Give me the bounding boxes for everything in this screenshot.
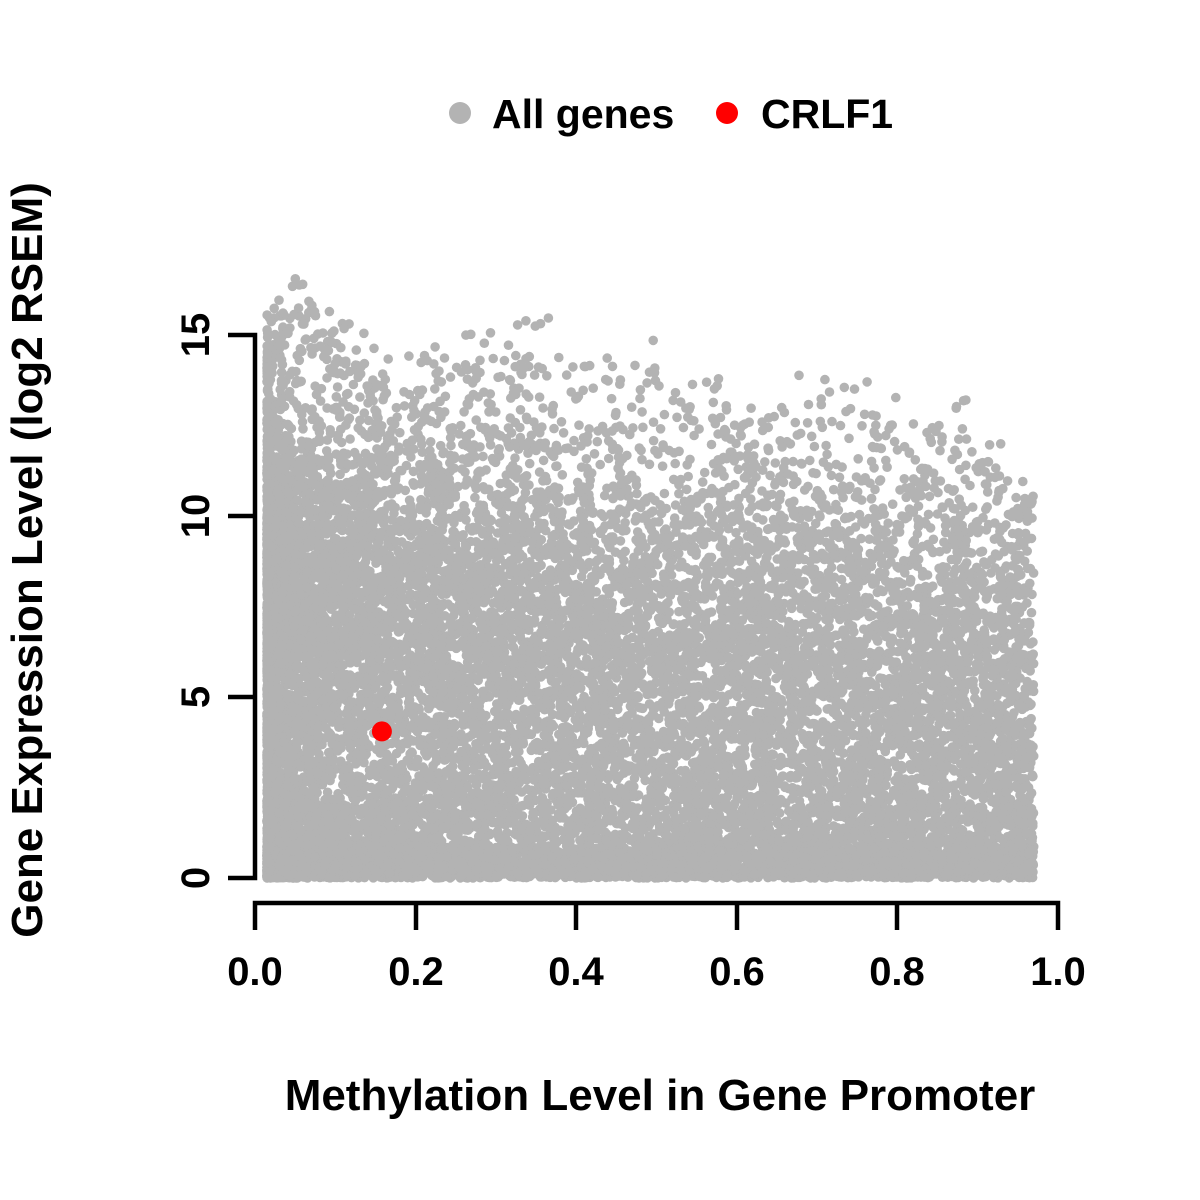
x-tick-label-0_8: 0.8 — [869, 950, 925, 994]
legend-label-crlf1: CRLF1 — [761, 91, 893, 137]
legend: All genes CRLF1 — [449, 91, 893, 137]
x-tick-label-0_6: 0.6 — [709, 950, 765, 994]
highlight-point-layer — [372, 721, 392, 741]
x-axis-title: Methylation Level in Gene Promoter — [285, 1071, 1036, 1120]
legend-label-all-genes: All genes — [492, 91, 674, 137]
highlight-point-crlf1 — [372, 721, 392, 741]
x-axis-line — [255, 903, 1058, 930]
y-axis: 0 5 10 15 Gene Expression Level (log2 RS… — [3, 182, 255, 938]
legend-marker-crlf1 — [716, 102, 738, 124]
chart-canvas: All genes CRLF1 0 5 10 15 Gene Expressio… — [0, 0, 1200, 1200]
x-axis: 0.0 0.2 0.4 0.6 0.8 1.0 Methylation Leve… — [227, 903, 1086, 1120]
x-tick-label-0_2: 0.2 — [388, 950, 444, 994]
scatter-points-layer — [262, 274, 1038, 883]
y-tick-label-0: 0 — [174, 867, 218, 889]
y-axis-title: Gene Expression Level (log2 RSEM) — [3, 182, 52, 938]
x-tick-label-1_0: 1.0 — [1030, 950, 1086, 994]
y-axis-line — [228, 335, 255, 878]
y-tick-label-5: 5 — [174, 686, 218, 708]
y-tick-label-10: 10 — [174, 494, 218, 539]
y-tick-label-15: 15 — [174, 313, 218, 358]
x-tick-label-0_0: 0.0 — [227, 950, 283, 994]
x-tick-label-0_4: 0.4 — [548, 950, 604, 994]
legend-marker-all-genes — [449, 102, 471, 124]
scatter-plot-figure: All genes CRLF1 0 5 10 15 Gene Expressio… — [0, 0, 1200, 1200]
